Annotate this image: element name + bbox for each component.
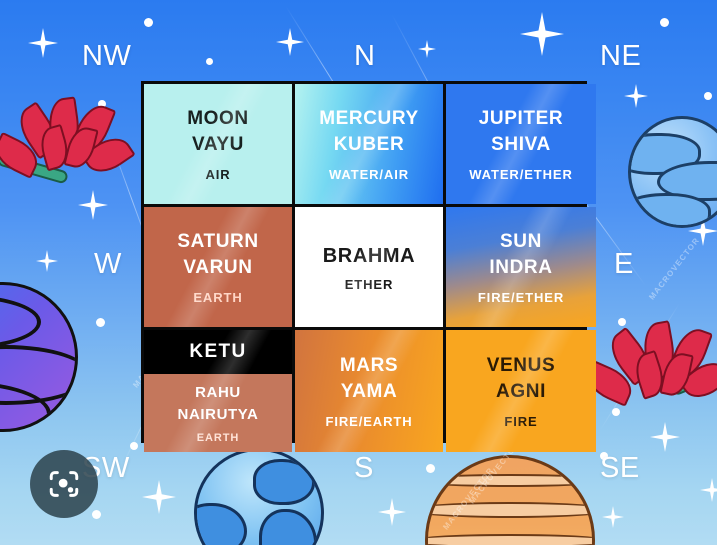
star-dot — [206, 58, 213, 65]
ketu-banner: KETU — [144, 330, 292, 374]
element-name: WATER/ETHER — [469, 167, 573, 182]
star-dot — [704, 92, 712, 100]
star-dot — [310, 514, 318, 522]
star-dot — [92, 510, 101, 519]
sparkle-star — [624, 84, 648, 108]
star-dot — [612, 408, 620, 416]
watermark: MACROVECTOR — [647, 236, 701, 302]
deity-name: INDRA — [489, 255, 552, 281]
sparkle-star — [688, 216, 717, 246]
sparkle-star — [28, 28, 58, 58]
grid-cell-rahu-ketu[interactable]: KETU RAHU NAIRUTYA EARTH — [144, 330, 292, 452]
star-dot — [618, 318, 626, 326]
vastu-poster: MACROVECTOR MACROVECTOR MACROVECTOR MACR… — [0, 0, 717, 545]
sparkle-star — [700, 478, 717, 502]
element-name: EARTH — [197, 432, 239, 444]
grid-cell-brahma[interactable]: BRAHMA ETHER — [295, 207, 443, 327]
direction-label-nw: NW — [82, 40, 131, 73]
direction-label-se: SE — [600, 452, 640, 485]
red-lotus-top-left — [16, 98, 116, 178]
star-dot — [660, 18, 669, 27]
direction-label-s: S — [354, 452, 374, 485]
element-name: FIRE/ETHER — [478, 290, 564, 305]
deity-name: YAMA — [341, 379, 398, 405]
planet-name: JUPITER — [479, 106, 563, 132]
element-name: EARTH — [193, 290, 242, 305]
sparkle-star — [78, 190, 108, 220]
blue-planet — [628, 116, 717, 228]
planet-name: MERCURY — [319, 106, 419, 132]
watermark: MACROVECTOR — [441, 466, 495, 532]
sparkle-star — [650, 422, 680, 452]
sparkle-star — [276, 28, 304, 56]
planet-name: SUN — [500, 229, 542, 255]
star-dot — [98, 100, 106, 108]
direction-label-w: W — [94, 248, 122, 281]
deity-name: NAIRUTYA — [178, 404, 259, 426]
rahu-body: RAHU NAIRUTYA EARTH — [144, 374, 292, 452]
planet-name: RAHU — [195, 382, 241, 404]
star-dot — [426, 464, 435, 473]
star-dot — [130, 442, 138, 450]
planet-name: BRAHMA — [323, 243, 415, 270]
grid-cell-mercury[interactable]: MERCURY KUBER WATER/AIR — [295, 84, 443, 204]
purple-planet — [0, 282, 78, 432]
grid-cell-venus[interactable]: VENUS AGNI FIRE — [446, 330, 596, 452]
earth-planet — [194, 448, 324, 545]
element-name: ETHER — [345, 277, 394, 292]
element-name: WATER/AIR — [329, 167, 409, 182]
planet-name: MOON — [187, 106, 249, 132]
sparkle-star — [36, 250, 58, 272]
element-name: FIRE/EARTH — [326, 414, 413, 429]
grid-cell-moon[interactable]: MOON VAYU AIR — [144, 84, 292, 204]
vastu-grid: MOON VAYU AIR MERCURY KUBER WATER/AIR JU… — [141, 81, 587, 443]
grid-cell-jupiter[interactable]: JUPITER SHIVA WATER/ETHER — [446, 84, 596, 204]
sparkle-star — [378, 498, 406, 526]
deity-name: VARUN — [183, 255, 252, 281]
grid-cell-saturn[interactable]: SATURN VARUN EARTH — [144, 207, 292, 327]
deity-name: SHIVA — [491, 132, 551, 158]
star-dot — [144, 18, 153, 27]
star-dot — [96, 318, 105, 327]
sparkle-star — [142, 480, 176, 514]
grid-cell-mars[interactable]: MARS YAMA FIRE/EARTH — [295, 330, 443, 452]
direction-label-n: N — [354, 40, 375, 73]
sparkle-star — [418, 40, 436, 58]
planet-name: MARS — [340, 353, 398, 379]
google-lens-button[interactable] — [30, 450, 98, 518]
deity-name: KUBER — [334, 132, 405, 158]
google-lens-icon — [47, 467, 81, 501]
jupiter-planet — [425, 455, 595, 545]
deity-name: VAYU — [192, 132, 244, 158]
planet-name: SATURN — [177, 229, 258, 255]
element-name: FIRE — [504, 414, 537, 429]
grid-cell-sun[interactable]: SUN INDRA FIRE/ETHER — [446, 207, 596, 327]
red-lotus-right — [614, 322, 714, 406]
sparkle-star — [602, 506, 624, 528]
direction-label-ne: NE — [600, 40, 641, 73]
deity-name: AGNI — [496, 379, 546, 405]
sparkle-star — [520, 12, 564, 56]
planet-name: VENUS — [487, 353, 555, 379]
element-name: AIR — [205, 167, 230, 182]
direction-label-e: E — [614, 248, 634, 281]
